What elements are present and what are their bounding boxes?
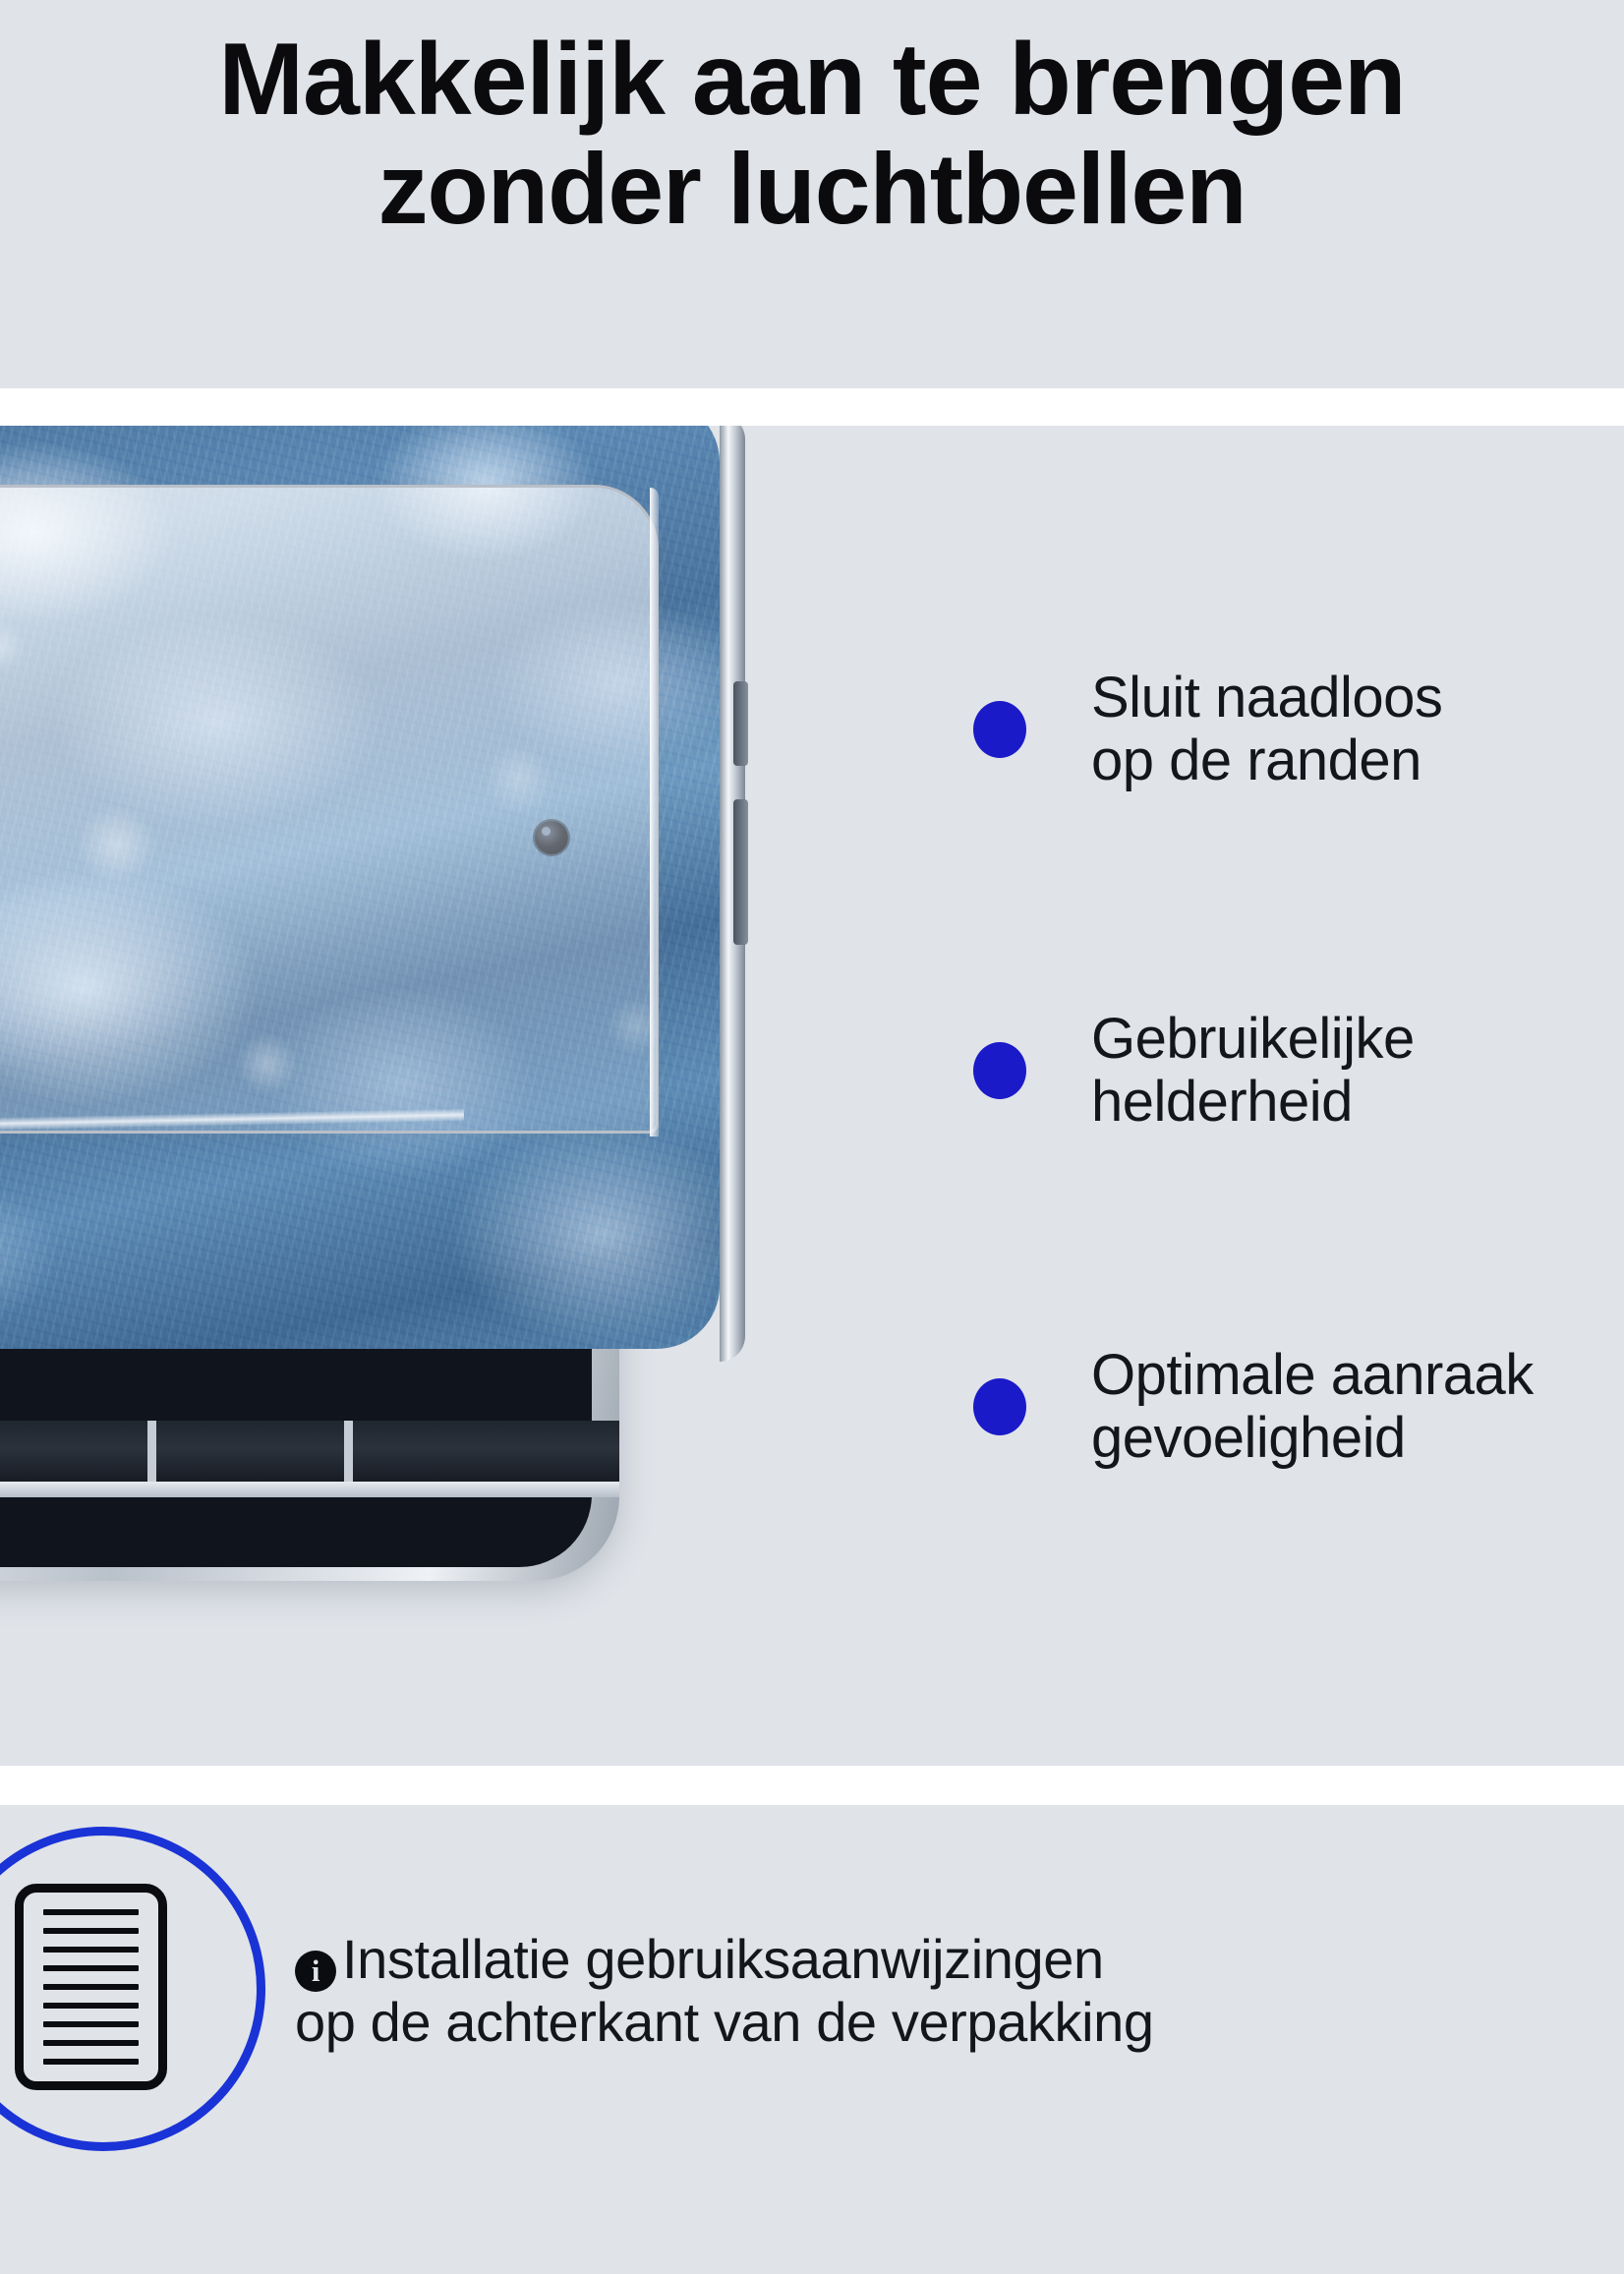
feature-line-1: Optimale aanraak <box>1091 1344 1534 1407</box>
title-line-1: Makkelijk aan te brengen <box>0 28 1624 132</box>
product-image <box>0 426 944 1694</box>
doc-text-line <box>43 2003 139 2009</box>
feature-text: Gebruikelijke helderheid <box>1091 1008 1415 1134</box>
divider-top <box>0 388 1624 426</box>
page-title: Makkelijk aan te brengen zonder luchtbel… <box>0 28 1624 240</box>
list-item: Optimale aanraak gevoeligheid <box>973 1344 1624 1470</box>
manual-badge <box>0 1827 265 2151</box>
feature-list: Sluit naadloos op de randen Gebruikelijk… <box>973 426 1624 1766</box>
feature-line-2: gevoeligheid <box>1091 1407 1534 1470</box>
footer-note: iInstallatie gebruiksaanwijzingen op de … <box>295 1929 1624 2054</box>
doc-text-line <box>43 2021 139 2027</box>
phone-button-top <box>733 681 748 766</box>
doc-text-line <box>43 2059 139 2065</box>
doc-text-line <box>43 1928 139 1934</box>
phone-bottom-frame <box>0 1421 619 1482</box>
phone-button-bottom <box>733 799 748 945</box>
feature-line-2: helderheid <box>1091 1071 1415 1134</box>
feature-line-1: Gebruikelijke <box>1091 1008 1415 1071</box>
phone-bottom-chin <box>0 1482 619 1497</box>
doc-text-line <box>43 1965 139 1971</box>
footer-section: iInstallatie gebruiksaanwijzingen op de … <box>0 1805 1624 2274</box>
glass-edge-highlight <box>650 488 659 1137</box>
bullet-dot-icon <box>973 1378 1026 1435</box>
list-item: Gebruikelijke helderheid <box>973 1008 1624 1134</box>
note-line-2: op de achterkant van de verpakking <box>295 1992 1624 2054</box>
title-line-2: zonder luchtbellen <box>0 138 1624 240</box>
body-section: Sluit naadloos op de randen Gebruikelijk… <box>0 426 1624 1766</box>
feature-line-1: Sluit naadloos <box>1091 667 1442 729</box>
doc-text-line <box>43 2040 139 2046</box>
frame-antenna-line <box>344 1421 353 1482</box>
header-section: Makkelijk aan te brengen zonder luchtbel… <box>0 0 1624 388</box>
bullet-dot-icon <box>973 701 1026 758</box>
frame-antenna-line <box>147 1421 156 1482</box>
feature-text: Optimale aanraak gevoeligheid <box>1091 1344 1534 1470</box>
note-line-1: iInstallatie gebruiksaanwijzingen <box>295 1929 1624 1992</box>
note-line-1-text: Installatie gebruiksaanwijzingen <box>342 1928 1104 1990</box>
divider-bottom <box>0 1766 1624 1805</box>
list-item: Sluit naadloos op de randen <box>973 667 1624 792</box>
doc-text-line <box>43 1947 139 1953</box>
doc-text-line <box>43 1909 139 1915</box>
bullet-dot-icon <box>973 1042 1026 1099</box>
info-icon: i <box>295 1951 336 1992</box>
feature-line-2: op de randen <box>1091 729 1442 792</box>
product-infographic: Makkelijk aan te brengen zonder luchtbel… <box>0 0 1624 2274</box>
doc-text-line <box>43 1984 139 1990</box>
tempered-glass-protector <box>0 485 659 1134</box>
feature-text: Sluit naadloos op de randen <box>1091 667 1442 792</box>
manual-document-icon <box>15 1884 167 2090</box>
